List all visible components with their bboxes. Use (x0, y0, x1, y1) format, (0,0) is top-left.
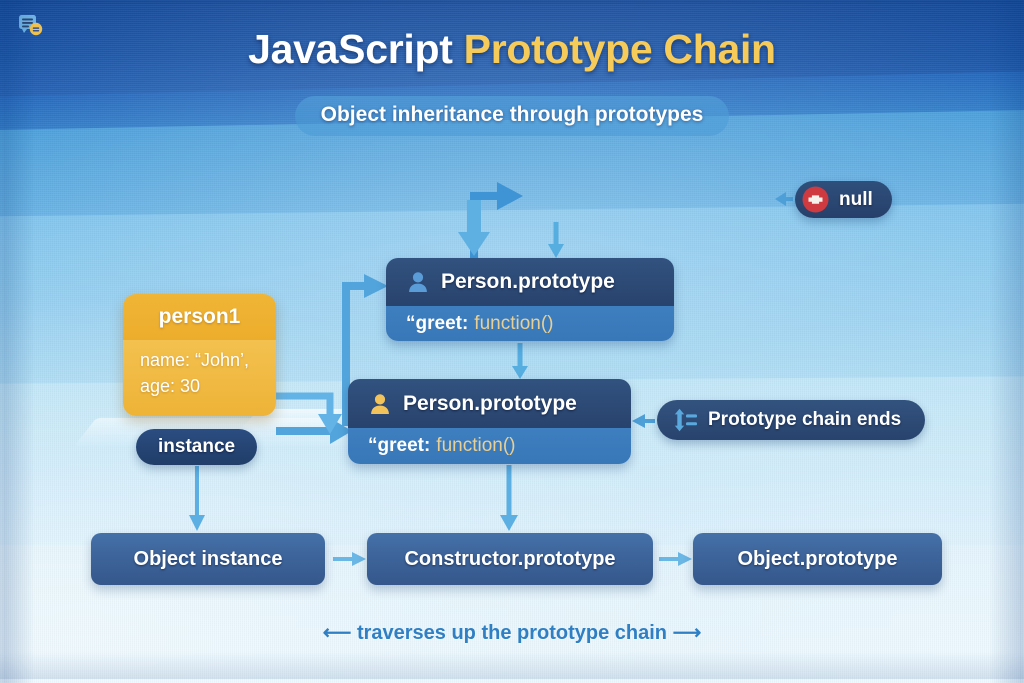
node-person1-body: name: “John’, age: 30 (123, 340, 276, 416)
page-title-part1: JavaScript (248, 26, 452, 72)
chain-box-constructor-prototype[interactable]: Constructor.prototype (367, 533, 653, 585)
chain-box-label: Object instance (134, 548, 283, 571)
node-person1-label: person1 (123, 294, 276, 340)
sort-updown-icon (672, 408, 698, 432)
null-pill-label: null (839, 189, 873, 211)
page-title: JavaScript Prototype Chain (0, 26, 1024, 73)
diagram-caption: ⟵ traverses up the prototype chain ⟶ (0, 620, 1024, 645)
node-person-prototype-lower-header: Person.prototype (348, 379, 631, 428)
chain-box-object-prototype[interactable]: Object.prototype (693, 533, 942, 585)
document-lines-icon (18, 13, 44, 37)
person1-prop-age: age: 30 (140, 374, 259, 400)
person-icon (406, 270, 430, 294)
node-person-prototype-lower[interactable]: Person.prototype “greet: function() (348, 379, 631, 464)
node-person-prototype-upper-body: “greet: function() (386, 306, 674, 341)
instance-pill[interactable]: instance (136, 429, 257, 465)
person-icon (368, 392, 392, 416)
subtitle-wrap: Object inheritance through prototypes (0, 96, 1024, 136)
chain-box-label: Object.prototype (737, 548, 897, 571)
node-person-prototype-lower-body: “greet: function() (348, 428, 631, 464)
node-person-prototype-upper[interactable]: Person.prototype “greet: function() (386, 258, 674, 341)
prop-value: function() (436, 435, 515, 457)
page-title-part2: Prototype Chain (464, 26, 776, 72)
person1-prop-name: name: “John’, (140, 348, 259, 374)
prop-key: “greet: (368, 435, 430, 457)
prop-key: “greet: (406, 313, 468, 335)
stop-block-icon (802, 186, 829, 213)
chain-end-pill[interactable]: Prototype chain ends (657, 400, 925, 440)
instance-pill-label: instance (158, 436, 235, 458)
node-person1[interactable]: person1 name: “John’, age: 30 (123, 294, 276, 416)
node-person-prototype-lower-label: Person.prototype (403, 392, 577, 416)
chain-box-object-instance[interactable]: Object instance (91, 533, 325, 585)
chain-end-pill-label: Prototype chain ends (708, 409, 901, 431)
node-person-prototype-upper-label: Person.prototype (441, 270, 615, 294)
node-person-prototype-upper-header: Person.prototype (386, 258, 674, 306)
chain-box-label: Constructor.prototype (404, 548, 615, 571)
prop-value: function() (474, 313, 553, 335)
page-subtitle: Object inheritance through prototypes (295, 96, 730, 136)
diagram-canvas: JavaScript Prototype Chain Object inheri… (0, 0, 1024, 683)
null-pill[interactable]: null (795, 181, 892, 218)
